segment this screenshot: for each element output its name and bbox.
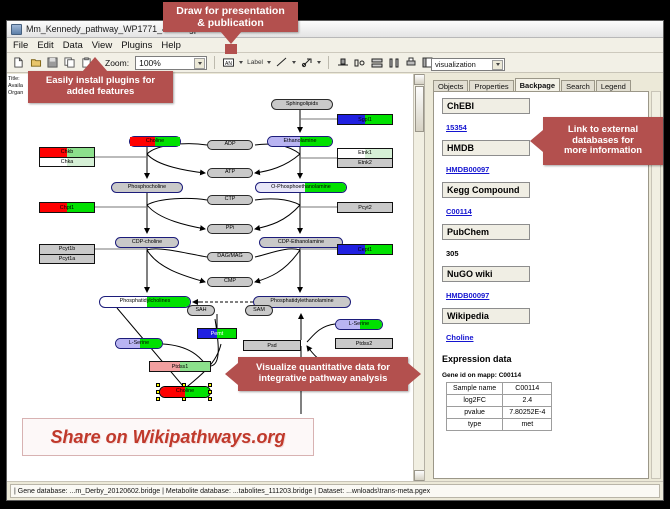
datanode-dropdown-icon[interactable] (239, 61, 243, 64)
node-pcyt1b-pcyt1a[interactable]: Pcyt1b Pcyt1a (39, 244, 95, 264)
callout-links: Link to external databases for more info… (543, 117, 663, 165)
node-ptdss1[interactable]: Ptdss1 (149, 361, 211, 372)
scroll-thumb[interactable] (415, 86, 424, 132)
interaction-dropdown-icon[interactable] (317, 61, 321, 64)
zoom-value: 100% (139, 58, 161, 68)
link-kegg[interactable]: C00114 (446, 207, 472, 216)
node-atp[interactable]: ATP (207, 168, 253, 178)
visualization-combo[interactable]: visualization (431, 58, 505, 71)
menu-item-data[interactable]: Data (63, 40, 83, 51)
datanode-icon[interactable]: AN (222, 56, 235, 69)
expression-data-title: Expression data (442, 354, 640, 364)
zoom-combo[interactable]: 100% (135, 56, 207, 70)
label-button[interactable]: Label (247, 59, 263, 66)
callout-draw-arrow-icon (220, 31, 242, 44)
toolbar-separator (214, 56, 215, 69)
tab-properties[interactable]: Properties (469, 80, 513, 91)
group-icon[interactable] (353, 56, 366, 69)
line-icon[interactable] (275, 56, 288, 69)
node-sah[interactable]: SAH (187, 305, 215, 316)
section-header-hmdb: HMDB (442, 140, 530, 156)
node-pcyt2[interactable]: Pcyt2 (337, 202, 393, 213)
open-folder-icon[interactable] (29, 56, 42, 69)
copy-icon[interactable] (63, 56, 76, 69)
node-etnk1-etnk2[interactable]: Etnk1 Etnk2 (337, 148, 393, 168)
node-ppi[interactable]: PPi (207, 224, 253, 234)
node-ptdss2[interactable]: Ptdss2 (335, 338, 393, 349)
screenshot-root: Mm_Kennedy_pathway_WP1771_45176.gpml Fil… (0, 0, 670, 509)
table-row: log2FC 2.4 (447, 395, 552, 407)
link-hmdb[interactable]: HMDB00097 (446, 165, 489, 174)
callout-plugins-stem (88, 66, 103, 74)
new-file-icon[interactable] (12, 56, 25, 69)
callout-links-stem (538, 135, 548, 147)
node-dag-mag[interactable]: DAG/MAG (207, 252, 253, 262)
tab-backpage[interactable]: Backpage (515, 78, 560, 91)
expression-table: Sample name C00114 log2FC 2.4 pvalue 7.8… (446, 382, 552, 431)
cell-label: Sample name (447, 383, 503, 395)
menu-item-help[interactable]: Help (161, 40, 181, 51)
gene-id-line: Gene id on mapp: C00114 (442, 372, 640, 379)
scroll-up-arrow[interactable] (414, 74, 425, 85)
node-chpt1[interactable]: Chpt1 (39, 202, 95, 213)
title-bar: Mm_Kennedy_pathway_WP1771_45176.gpml (7, 21, 663, 38)
line-dropdown-icon[interactable] (292, 61, 296, 64)
node-sam[interactable]: SAM (245, 305, 273, 316)
callout-draw-stem (225, 44, 237, 54)
node-sphingolipids[interactable]: Sphingolipids (271, 99, 333, 110)
value-pubchem: 305 (446, 249, 459, 258)
callout-visualize: Visualize quantitative data for integrat… (238, 357, 408, 391)
cell-value: 2.4 (503, 395, 552, 407)
interaction-icon[interactable] (300, 56, 313, 69)
cell-label: type (447, 419, 503, 431)
stack-icon[interactable] (370, 56, 383, 69)
tab-legend[interactable]: Legend (596, 80, 631, 91)
cell-value: met (503, 419, 552, 431)
menu-item-view[interactable]: View (92, 40, 112, 51)
section-header-kegg: Kegg Compound (442, 182, 530, 198)
menu-bar: File Edit Data View Plugins Help (7, 38, 663, 53)
visualization-value: visualization (435, 60, 476, 69)
node-pemt[interactable]: Pemt (197, 328, 237, 339)
callout-share-text: Share on Wikipathways.org (51, 427, 286, 448)
menu-item-file[interactable]: File (13, 40, 28, 51)
section-header-nugo: NuGO wiki (442, 266, 530, 282)
cell-value: 7.80252E-4 (503, 407, 552, 419)
callout-draw: Draw for presentation & publication (163, 2, 298, 32)
cell-label: log2FC (447, 395, 503, 407)
tab-objects[interactable]: Objects (433, 80, 468, 91)
node-chkb-chka[interactable]: Chkb Chka (39, 147, 95, 167)
node-cdp-choline[interactable]: CDP-choline (115, 237, 179, 248)
zoom-label: Zoom: (105, 58, 129, 68)
link-chebi[interactable]: 15354 (446, 123, 467, 132)
link-wikipedia[interactable]: Choline (446, 333, 474, 342)
node-adp[interactable]: ADP (207, 140, 253, 150)
status-text: | Gene database: ...m_Derby_20120602.bri… (10, 484, 660, 498)
table-row: type met (447, 419, 552, 431)
node-ethanolamine-top[interactable]: Ethanolamine (267, 136, 333, 147)
node-cdp-ethanolamine[interactable]: CDP-Ethanolamine (259, 237, 343, 248)
svg-text:AN: AN (225, 60, 232, 66)
chevron-down-icon[interactable] (194, 58, 205, 69)
toolbar-separator-2 (328, 56, 329, 69)
cell-value: C00114 (503, 383, 552, 395)
canvas-availability-label: Availa (8, 83, 28, 90)
node-sgpl1[interactable]: Sgpl1 (337, 114, 393, 125)
tab-search[interactable]: Search (561, 80, 595, 91)
node-choline-top[interactable]: Choline (129, 136, 181, 147)
canvas-organism-label: Organ (8, 90, 28, 97)
print-icon[interactable] (404, 56, 417, 69)
align-icon[interactable] (336, 56, 349, 69)
section-header-chebi: ChEBI (442, 98, 530, 114)
section-header-wikipedia: Wikipedia (442, 308, 530, 324)
node-phosphocholine[interactable]: Phosphocholine (111, 182, 183, 193)
callout-visualize-stem-right (402, 368, 410, 380)
label-dropdown-icon[interactable] (267, 61, 271, 64)
node-cept1[interactable]: Cept1 (337, 244, 393, 255)
app-icon (11, 24, 22, 35)
menu-item-plugins[interactable]: Plugins (121, 40, 152, 51)
scroll-down-arrow[interactable] (414, 470, 425, 481)
node-psd[interactable]: Psd (243, 340, 301, 351)
status-bar: | Gene database: ...m_Derby_20120602.bri… (7, 481, 663, 500)
distribute-icon[interactable] (387, 56, 400, 69)
menu-item-edit[interactable]: Edit (37, 40, 53, 51)
table-row: pvalue 7.80252E-4 (447, 407, 552, 419)
callout-plugins: Easily install plugins for added feature… (28, 71, 173, 103)
node-l-serine-right[interactable]: L-Serine (335, 319, 383, 330)
node-ctp[interactable]: CTP (207, 195, 253, 205)
node-cmp[interactable]: CMP (207, 277, 253, 287)
callout-visualize-stem-left (233, 368, 241, 380)
sidebar-tabs: Objects Properties Backpage Search Legen… (433, 78, 659, 91)
node-phosphatidylcholines[interactable]: Phosphatidylcholines (99, 296, 191, 308)
chevron-down-icon[interactable] (492, 60, 503, 70)
cell-label: pvalue (447, 407, 503, 419)
callout-share-box: Share on Wikipathways.org (22, 418, 314, 456)
link-nugo[interactable]: HMDB00097 (446, 291, 489, 300)
section-header-pubchem: PubChem (442, 224, 530, 240)
save-icon[interactable] (46, 56, 59, 69)
canvas-vertical-scrollbar[interactable] (413, 74, 424, 481)
table-row: Sample name C00114 (447, 383, 552, 395)
node-l-serine-left[interactable]: L-Serine (115, 338, 163, 349)
canvas-title-label: Title: (8, 76, 28, 83)
node-o-phosphoethanolamine[interactable]: O-Phosphoethanolamine (255, 182, 347, 193)
